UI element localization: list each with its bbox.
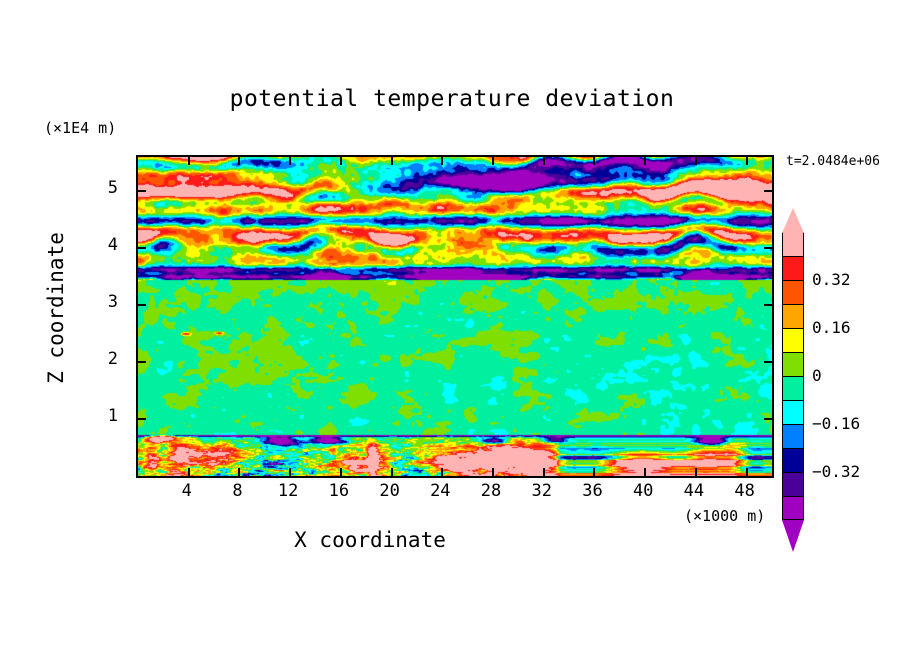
colorbar-swatch bbox=[782, 280, 804, 304]
time-annotation: t=2.0484e+06 bbox=[786, 154, 880, 169]
x-axis-tick bbox=[492, 468, 494, 476]
x-axis-tick bbox=[746, 157, 748, 165]
y-axis-tick-label: 1 bbox=[86, 406, 118, 426]
x-axis-tick bbox=[644, 468, 646, 476]
y-axis-tick bbox=[138, 361, 146, 363]
x-axis-tick bbox=[593, 157, 595, 165]
colorbar-cap-top-icon bbox=[782, 208, 804, 233]
plot-area bbox=[136, 155, 774, 478]
contour-field-canvas bbox=[138, 157, 772, 476]
y-axis-tick bbox=[764, 304, 772, 306]
chart-page: potential temperature deviation (×1E4 m)… bbox=[0, 0, 904, 654]
x-axis-tick bbox=[289, 468, 291, 476]
y-axis-tick bbox=[764, 190, 772, 192]
y-axis-tick-label: 3 bbox=[86, 292, 118, 312]
colorbar-swatch bbox=[782, 472, 804, 496]
x-axis-tick bbox=[340, 468, 342, 476]
colorbar-swatch bbox=[782, 328, 804, 352]
x-axis-tick bbox=[188, 157, 190, 165]
colorbar-swatch bbox=[782, 448, 804, 472]
x-axis-tick bbox=[391, 468, 393, 476]
y-axis-tick bbox=[764, 418, 772, 420]
y-axis-tick-label: 5 bbox=[86, 178, 118, 198]
y-axis-tick bbox=[138, 418, 146, 420]
y-axis-tick bbox=[138, 247, 146, 249]
x-axis-tick bbox=[238, 157, 240, 165]
y-axis-tick-label: 2 bbox=[86, 349, 118, 369]
colorbar-tick-label: −0.32 bbox=[812, 462, 860, 481]
x-axis-tick bbox=[340, 157, 342, 165]
colorbar-cap-bottom-icon bbox=[782, 520, 804, 552]
colorbar-tick-label: 0.32 bbox=[812, 270, 851, 289]
y-axis-title: Z coordinate bbox=[44, 208, 68, 408]
x-axis-tick bbox=[441, 157, 443, 165]
x-axis-tick bbox=[543, 468, 545, 476]
colorbar-swatch bbox=[782, 400, 804, 424]
colorbar-tick-label: 0 bbox=[812, 366, 822, 385]
colorbar-swatch bbox=[782, 424, 804, 448]
x-axis-tick bbox=[593, 468, 595, 476]
x-axis-tick bbox=[543, 157, 545, 165]
x-axis-tick bbox=[644, 157, 646, 165]
x-axis-title: X coordinate bbox=[0, 528, 740, 552]
y-axis-unit-label: (×1E4 m) bbox=[44, 119, 116, 137]
y-axis-tick bbox=[764, 361, 772, 363]
y-axis-tick bbox=[764, 247, 772, 249]
x-axis-tick bbox=[695, 468, 697, 476]
x-axis-tick bbox=[695, 157, 697, 165]
colorbar bbox=[782, 232, 804, 520]
colorbar-swatch bbox=[782, 256, 804, 280]
y-axis-tick bbox=[138, 190, 146, 192]
colorbar-swatch bbox=[782, 376, 804, 400]
colorbar-swatch bbox=[782, 232, 804, 256]
colorbar-tick-label: 0.16 bbox=[812, 318, 851, 337]
colorbar-swatch bbox=[782, 352, 804, 376]
colorbar-swatch bbox=[782, 304, 804, 328]
colorbar-swatch bbox=[782, 496, 804, 520]
x-axis-tick bbox=[492, 157, 494, 165]
x-axis-unit-label: (×1000 m) bbox=[684, 507, 765, 525]
page-title: potential temperature deviation bbox=[0, 86, 904, 112]
x-axis-tick bbox=[238, 468, 240, 476]
colorbar-tick-label: −0.16 bbox=[812, 414, 860, 433]
x-axis-tick bbox=[746, 468, 748, 476]
x-axis-tick-label: 48 bbox=[715, 481, 775, 501]
y-axis-tick-label: 4 bbox=[86, 235, 118, 255]
x-axis-tick bbox=[391, 157, 393, 165]
y-axis-tick bbox=[138, 304, 146, 306]
x-axis-tick bbox=[441, 468, 443, 476]
x-axis-tick bbox=[188, 468, 190, 476]
x-axis-tick bbox=[289, 157, 291, 165]
